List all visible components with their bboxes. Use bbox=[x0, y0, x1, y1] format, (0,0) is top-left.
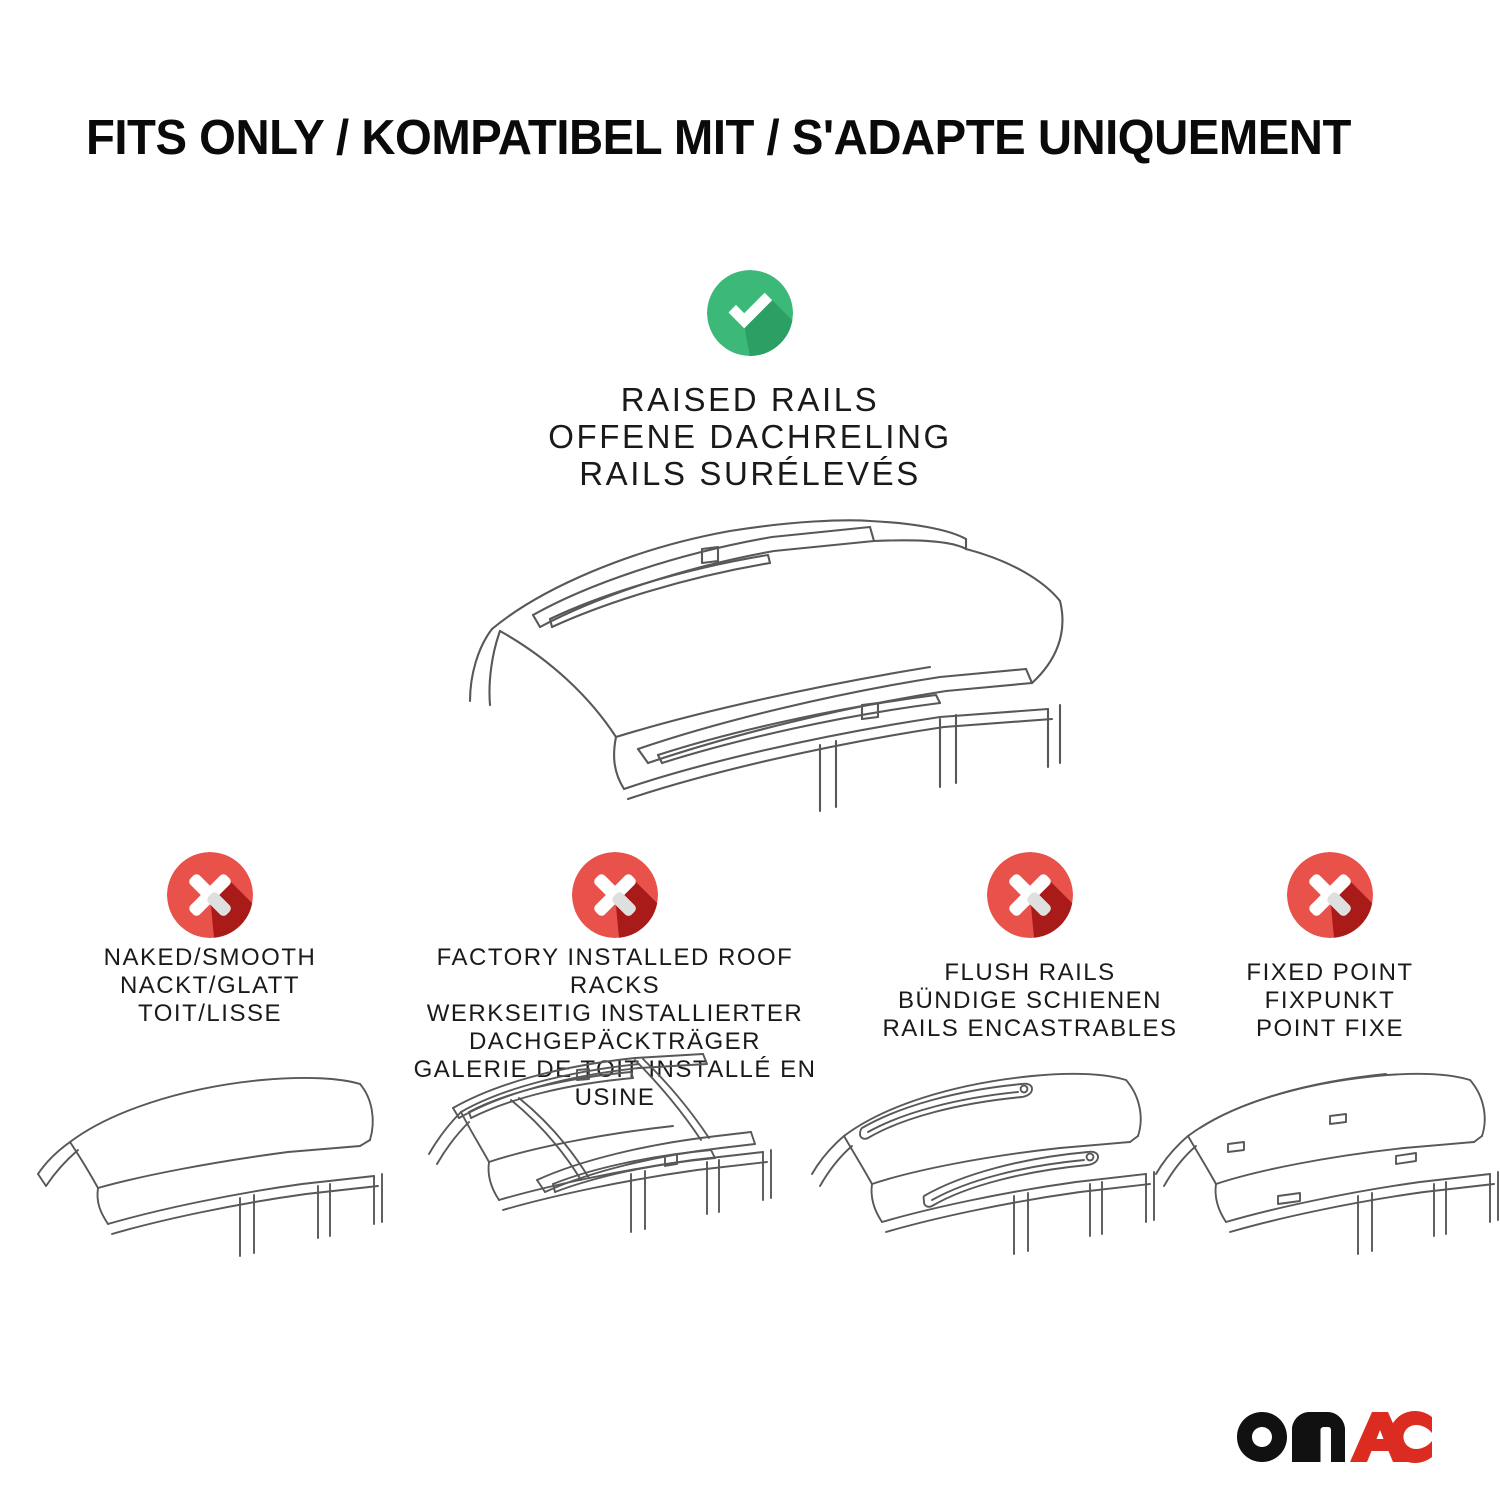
car-roof-fixed-point-figure bbox=[1150, 1058, 1500, 1298]
cross-circle-icon bbox=[987, 852, 1073, 938]
car-roof-factory-rack-figure bbox=[415, 1052, 785, 1298]
car-roof-flush-rails-figure bbox=[800, 1058, 1170, 1298]
car-roof-naked-smooth-figure bbox=[30, 1058, 400, 1298]
cross-circle-icon bbox=[1287, 852, 1373, 938]
omac-logo bbox=[1232, 1406, 1432, 1468]
incompatible-caption-1: NAKED/SMOOTH NACKT/GLATT TOIT/LISSE bbox=[40, 944, 380, 1028]
cross-circle-icon bbox=[572, 852, 658, 938]
car-roof-raised-rails-figure bbox=[400, 505, 1100, 815]
compatible-caption: RAISED RAILS OFFENE DACHRELING RAILS SUR… bbox=[450, 381, 1050, 492]
incompatible-caption-4: FIXED POINT FIXPUNKT POINT FIXE bbox=[1180, 959, 1480, 1043]
incompatible-caption-3: FLUSH RAILS BÜNDIGE SCHIENEN RAILS ENCAS… bbox=[860, 959, 1200, 1043]
cross-circle-icon bbox=[167, 852, 253, 938]
check-circle-icon bbox=[707, 270, 793, 356]
page-title: FITS ONLY / KOMPATIBEL MIT / S'ADAPTE UN… bbox=[86, 108, 1379, 168]
